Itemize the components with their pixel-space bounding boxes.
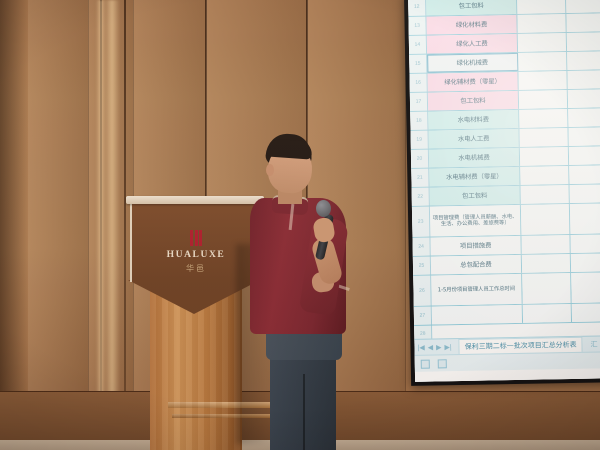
table-row[interactable]: 261-5月份项目管理人员工作总时间 [413,272,600,307]
cell-label[interactable]: 包工包料 [428,91,519,111]
row-number[interactable]: 25 [413,257,431,275]
cell-label[interactable]: 包工包料 [430,186,521,206]
table-row[interactable]: 23项目管理费（管理人员薪酬、水电、生活、办公费用、差旅费等） [412,203,600,238]
row-number[interactable]: 16 [409,74,427,92]
cell-value[interactable] [522,273,572,304]
spreadsheet-app[interactable]: 12包工包料13绿化材料费14绿化人工费15绿化机械费16绿化辅材费（零星）17… [408,0,600,382]
row-number[interactable]: 26 [413,276,432,306]
cell-label[interactable] [432,305,523,325]
cell-value[interactable] [517,14,566,33]
cell-value[interactable] [518,52,567,71]
cell-value[interactable] [570,234,600,253]
sheet-prev-icon[interactable]: ◀ [428,344,434,351]
cell-value[interactable] [572,303,600,322]
row-number[interactable]: 21 [411,169,429,187]
cell-value[interactable] [520,147,569,166]
cell-label[interactable]: 绿化辅材费（零星） [427,72,518,92]
cell-value[interactable] [520,166,569,185]
cell-value[interactable] [570,203,600,234]
cell-value[interactable] [523,304,572,323]
projection-screen[interactable]: 12包工包料13绿化材料费14绿化人工费15绿化机械费16绿化辅材费（零星）17… [408,0,600,382]
row-number[interactable]: 22 [412,188,430,206]
cell-value[interactable] [519,90,568,109]
row-number[interactable]: 17 [410,93,428,111]
cell-value[interactable] [518,71,567,90]
page-layout-icon[interactable] [438,359,447,368]
lectern-top-surface [126,196,264,204]
cell-label[interactable]: 总包配合费 [431,255,522,275]
cell-value[interactable] [566,13,600,32]
cell-value[interactable] [566,0,600,13]
cell-value[interactable] [568,127,600,146]
cell-label[interactable]: 绿化机械费 [427,53,518,73]
cell-label[interactable]: 包工包料 [426,0,517,16]
cell-value[interactable] [522,254,571,273]
cell-value[interactable] [571,272,600,303]
cell-label[interactable]: 绿化人工费 [427,34,518,54]
row-number[interactable]: 23 [412,207,431,237]
wall-highlight-2 [96,0,106,450]
cell-value[interactable] [569,146,600,165]
row-number[interactable]: 20 [411,150,429,168]
spreadsheet-rows[interactable]: 12包工包料13绿化材料费14绿化人工费15绿化机械费16绿化辅材费（零星）17… [408,0,600,382]
cell-value[interactable] [521,235,570,254]
cell-label[interactable]: 水电人工费 [429,129,520,149]
cell-value[interactable] [521,185,570,204]
cell-label[interactable]: 项目管理费（管理人员薪酬、水电、生活、办公费用、差旅费等） [430,205,522,237]
cell-value[interactable] [571,253,600,272]
hualuxe-logo-icon [190,230,202,246]
presentation-scene: 12包工包料13绿化材料费14绿化人工费15绿化机械费16绿化辅材费（零星）17… [0,0,600,450]
sheet-last-icon[interactable]: ▶| [444,344,451,351]
cell-label[interactable]: 水电辅材费（零星） [429,167,520,187]
wall-highlight-1 [104,0,120,450]
cell-value[interactable] [567,70,600,89]
presenter-legs [270,350,336,450]
grid-view-icon[interactable] [421,359,430,368]
cell-value[interactable] [568,108,600,127]
wall-panel-1 [28,0,89,450]
cell-value[interactable] [517,0,566,14]
cell-value[interactable] [568,89,600,108]
cell-label[interactable]: 1-5月份项目管理人员工作总时间 [431,274,523,306]
leg-separation [303,374,305,450]
cell-value[interactable] [567,51,600,70]
row-number[interactable]: 13 [408,17,426,35]
row-number[interactable]: 18 [410,112,428,130]
cell-value[interactable] [519,109,568,128]
row-number[interactable]: 19 [411,131,429,149]
table-row[interactable]: 27 [414,303,600,326]
presenter [246,134,366,450]
cell-label[interactable]: 水电机械费 [429,148,520,168]
cell-label[interactable]: 项目措施费 [430,236,521,256]
row-number[interactable]: 27 [414,307,432,325]
wall-shadow-left [0,0,28,450]
cell-value[interactable] [519,128,568,147]
cell-label[interactable]: 绿化材料费 [426,15,517,35]
sheet-first-icon[interactable]: |◀ [417,344,424,351]
sheet-tab-other[interactable]: 汇 [588,337,600,351]
row-number[interactable]: 12 [408,0,426,16]
sheet-next-icon[interactable]: ▶ [436,344,442,351]
projection-screen-frame: 12包工包料13绿化材料费14绿化人工费15绿化机械费16绿化辅材费（零星）17… [404,0,600,386]
cell-value[interactable] [567,32,600,51]
cell-label[interactable]: 水电材料费 [428,110,519,130]
row-number[interactable]: 15 [409,55,427,73]
cell-value[interactable] [521,204,571,235]
cell-value[interactable] [570,184,600,203]
cell-value[interactable] [518,33,567,52]
presenter-ear [266,164,274,176]
cell-value[interactable] [569,165,600,184]
row-number[interactable]: 24 [412,238,430,256]
microphone-head-icon [316,200,331,217]
row-number[interactable]: 14 [409,36,427,54]
